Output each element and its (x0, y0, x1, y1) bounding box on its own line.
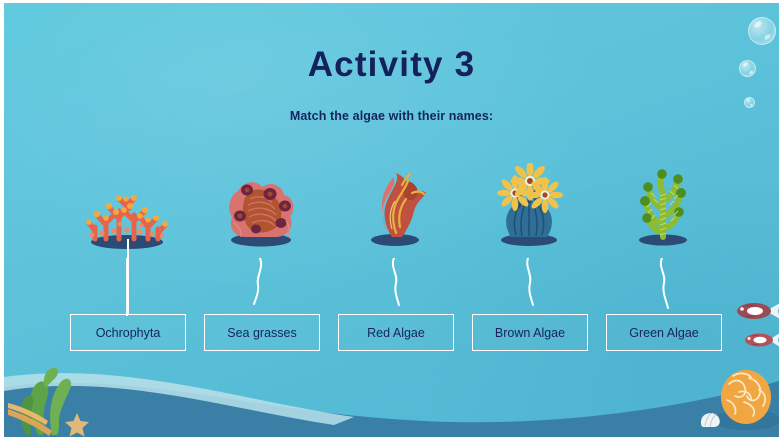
algae-item-anemone-sunflower[interactable] (464, 163, 594, 313)
seafloor (4, 347, 779, 437)
answer-label: Sea grasses (227, 326, 296, 340)
green-seaweed-stem[interactable] (598, 258, 728, 318)
anemone-sunflower-stem[interactable] (464, 258, 594, 318)
answer-label: Green Algae (629, 326, 699, 340)
match-connector-line (127, 239, 129, 315)
brain-coral-pink-stem[interactable] (196, 258, 326, 318)
fish-small-icon (744, 330, 779, 350)
algae-item-brain-coral-pink[interactable] (196, 163, 326, 313)
anemone-sunflower-icon[interactable] (464, 163, 594, 263)
answer-box-sea-grasses[interactable]: Sea grasses (204, 314, 320, 351)
algae-item-green-seaweed[interactable] (598, 163, 728, 313)
answer-label: Red Algae (367, 326, 425, 340)
answer-box-brown-algae[interactable]: Brown Algae (472, 314, 588, 351)
page-title: Activity 3 (4, 45, 779, 85)
answer-box-green-algae[interactable]: Green Algae (606, 314, 722, 351)
bubble-medium-icon (739, 60, 756, 77)
instruction-text: Match the algae with their names: (4, 109, 779, 123)
answer-box-ochrophyta[interactable]: Ochrophyta (70, 314, 186, 351)
red-flame-algae-icon[interactable] (330, 163, 460, 263)
slide-background: Activity 3 Match the algae with their na… (4, 3, 779, 437)
bubble-large-icon (748, 17, 776, 45)
red-flame-algae-stem[interactable] (330, 258, 460, 318)
green-seaweed-icon[interactable] (598, 163, 728, 263)
bubble-small-icon (744, 97, 755, 108)
fish-large-icon (736, 299, 779, 323)
left-plants-decoration (8, 357, 118, 437)
answer-box-red-algae[interactable]: Red Algae (338, 314, 454, 351)
slide-canvas: Activity 3 Match the algae with their na… (0, 0, 783, 440)
answer-label: Ochrophyta (96, 326, 161, 340)
right-coral-decoration (689, 362, 779, 437)
brain-coral-pink-icon[interactable] (196, 163, 326, 263)
answer-label: Brown Algae (495, 326, 565, 340)
algae-item-red-flame-algae[interactable] (330, 163, 460, 313)
